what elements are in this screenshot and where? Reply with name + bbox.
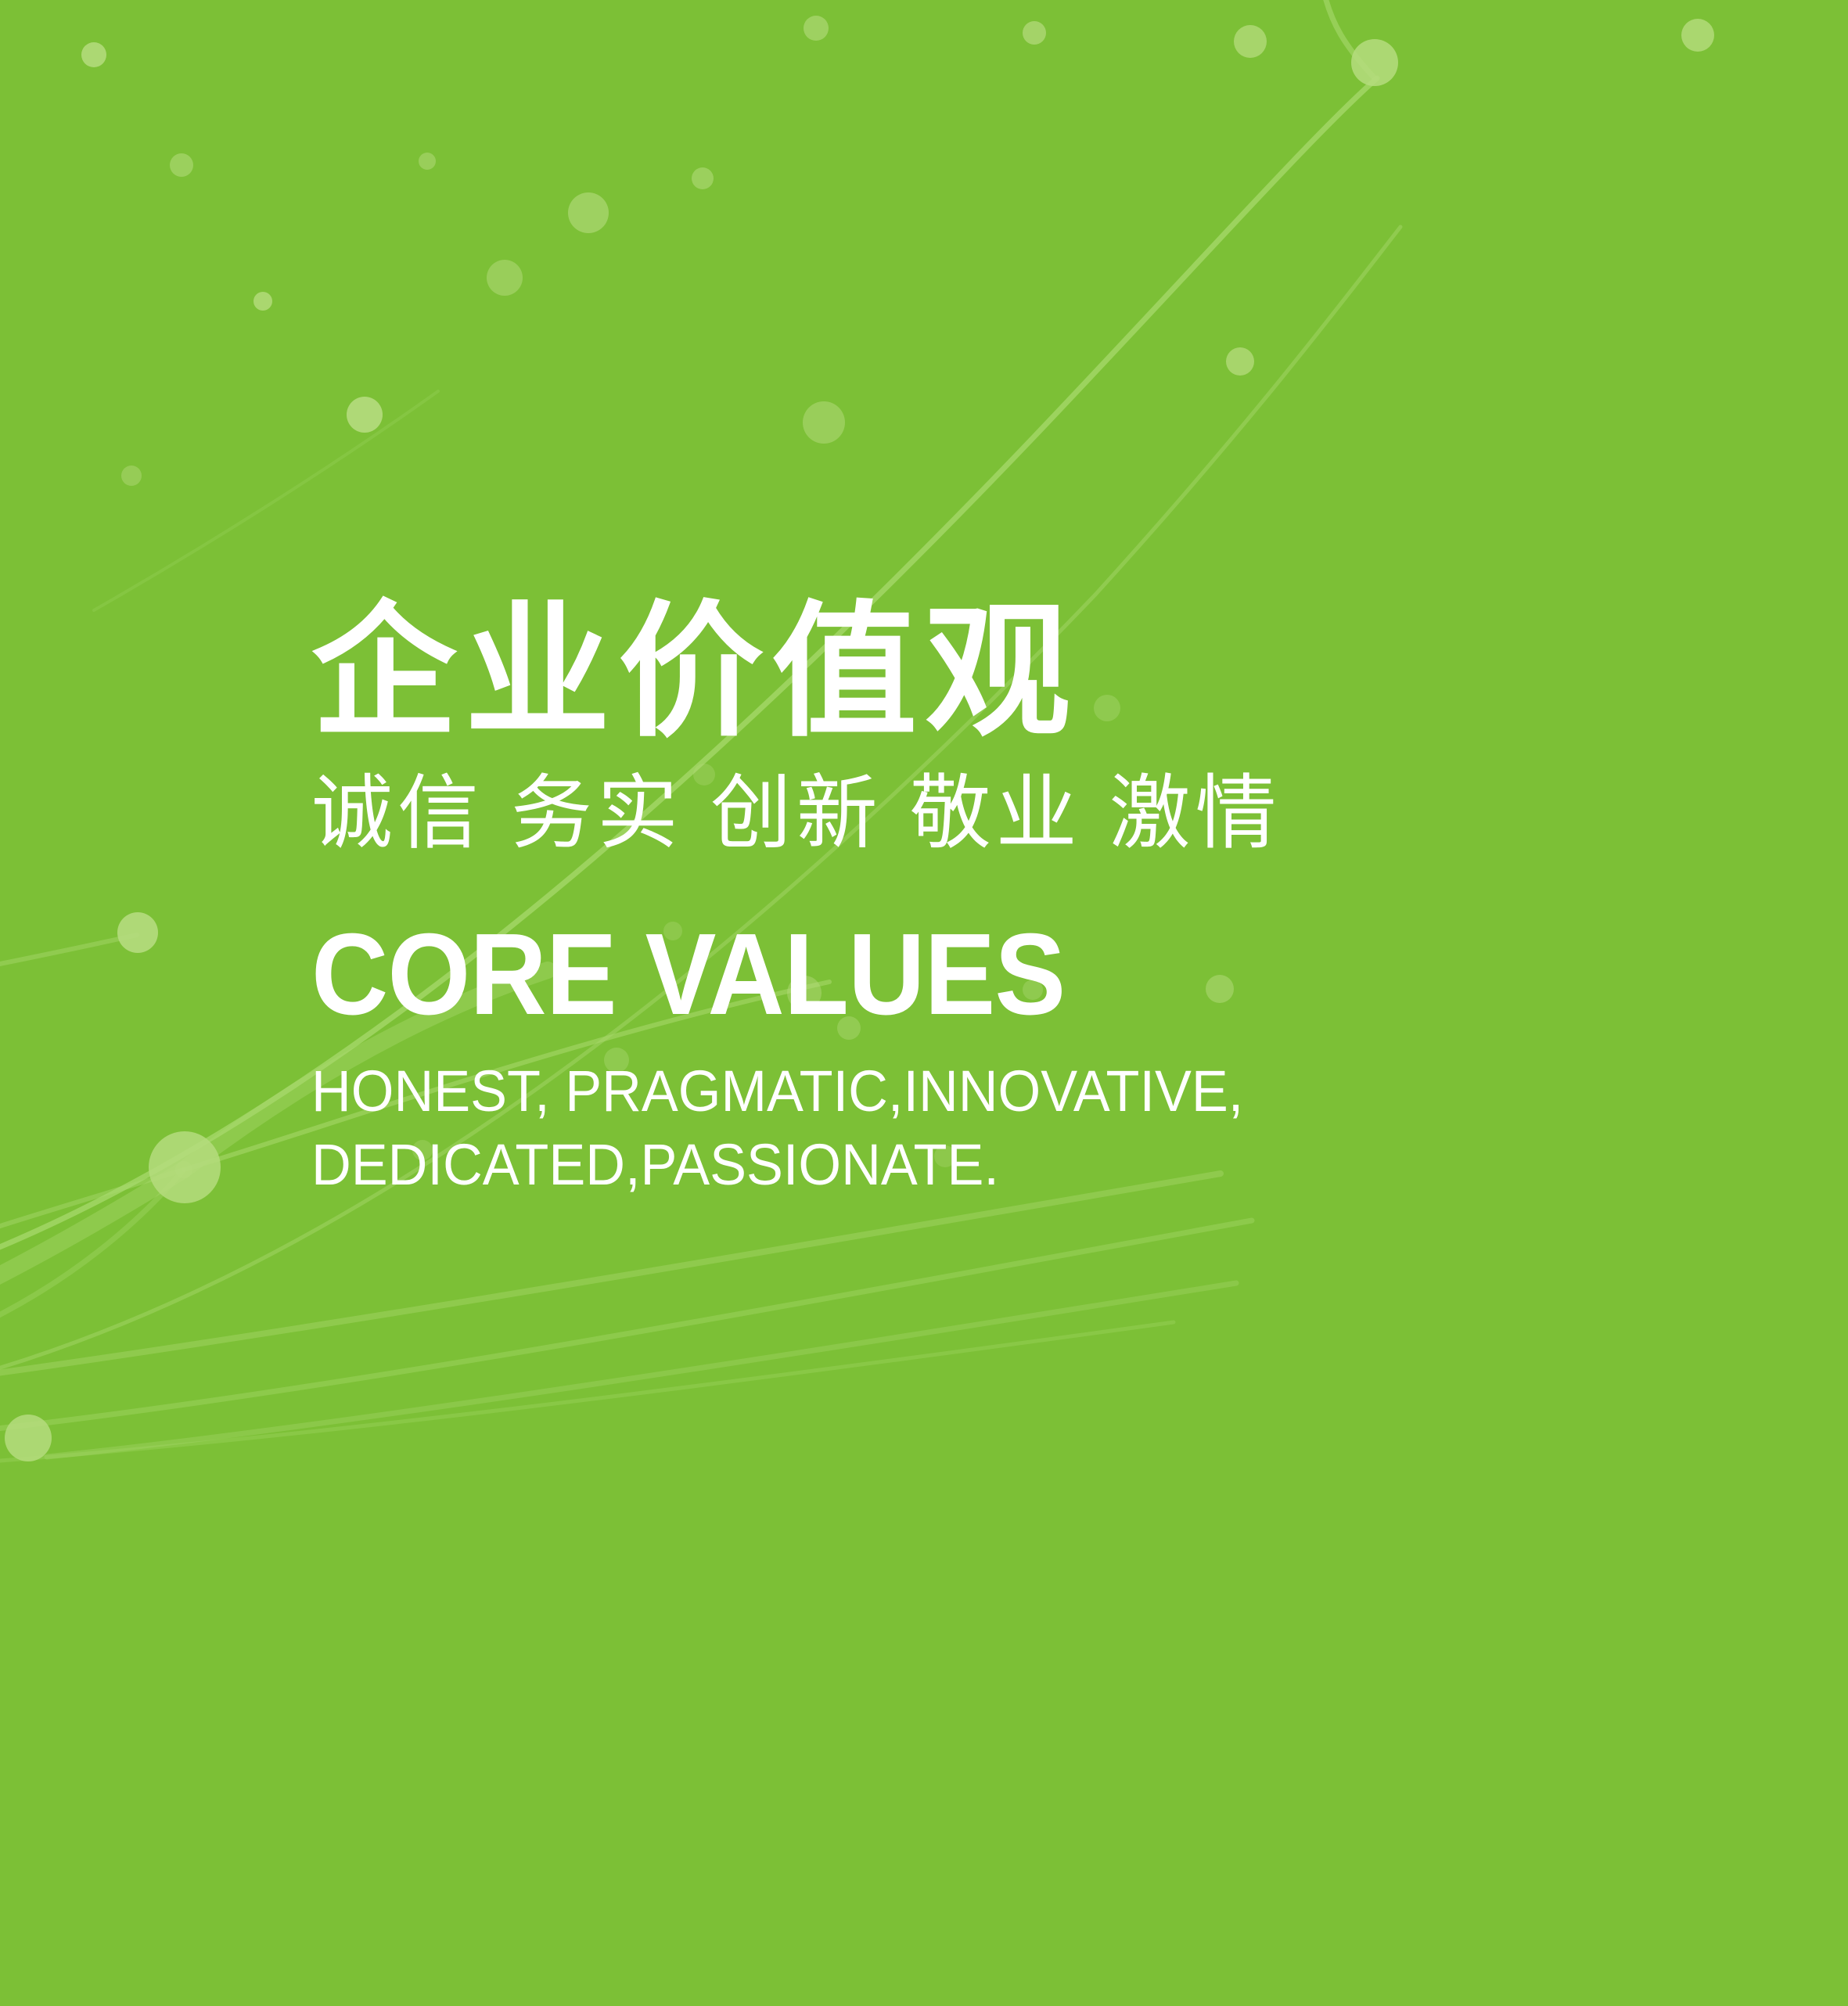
node-dot	[804, 16, 829, 41]
node-dot	[1681, 19, 1714, 52]
node-dot	[1351, 39, 1398, 86]
headline-block: 企业价值观 诚信 务实 创新 敬业 激情 CORE VALUES HONEST,…	[311, 595, 1720, 1203]
node-dot	[803, 401, 845, 444]
node-dot	[5, 1415, 52, 1461]
node-dot	[568, 192, 609, 233]
node-dot	[487, 260, 523, 296]
node-dot	[1023, 21, 1046, 45]
node-dot	[81, 42, 106, 67]
node-dot	[1226, 347, 1254, 376]
subtitle-english-line-1: HONEST, PRAGMATIC,INNOVATIVE,	[311, 1055, 1649, 1129]
page-title-english: CORE VALUES	[311, 917, 1607, 1033]
subtitle-chinese: 诚信 务实 创新 敬业 激情	[311, 766, 1720, 862]
node-dot	[117, 912, 158, 953]
page-title-chinese: 企业价值观	[311, 595, 1720, 752]
node-dot	[170, 153, 193, 177]
node-dot	[347, 397, 383, 433]
node-dot	[253, 292, 272, 311]
node-dot	[1234, 25, 1267, 58]
node-dot	[692, 167, 714, 189]
core-values-poster: 企业价值观 诚信 务实 创新 敬业 激情 CORE VALUES HONEST,…	[0, 0, 1848, 2006]
node-dot	[419, 153, 436, 170]
subtitle-english-line-2: DEDICATED,PASSIONATE.	[311, 1128, 1649, 1203]
node-dot	[121, 466, 142, 486]
subtitle-english: HONEST, PRAGMATIC,INNOVATIVE, DEDICATED,…	[311, 1055, 1649, 1203]
node-dot	[149, 1131, 221, 1203]
